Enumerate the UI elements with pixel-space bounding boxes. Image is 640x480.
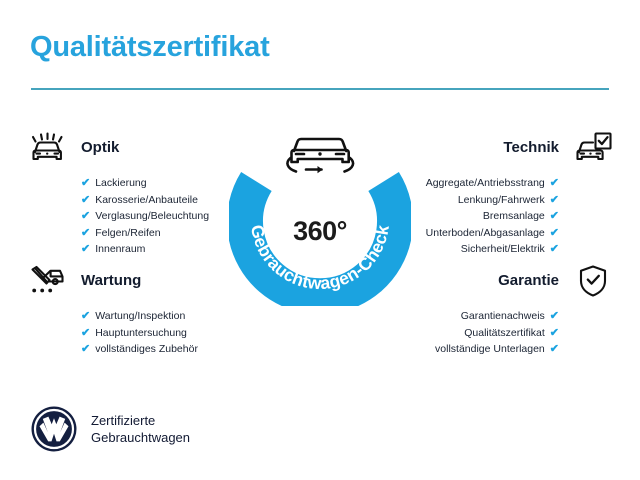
list-item-label: Lackierung xyxy=(95,175,146,192)
list-item-label: Bremsanlage xyxy=(483,208,545,225)
list-item: ✔Wartung/Inspektion xyxy=(81,308,251,325)
list-item: ✔Innenraum xyxy=(81,241,251,258)
check-icon: ✔ xyxy=(550,308,559,325)
car-service-wrench-icon xyxy=(26,262,68,300)
footer-brand-lockup: Zertifizierte Gebrauchtwagen xyxy=(30,405,190,453)
list-item-label: Sicherheit/Elektrik xyxy=(461,241,545,258)
list-item-label: vollständige Unterlagen xyxy=(435,341,545,358)
list-item-label: Karosserie/Anbauteile xyxy=(95,192,198,209)
list-item: ✔vollständiges Zubehör xyxy=(81,341,251,358)
list-item: Qualitätszertifikat✔ xyxy=(390,325,559,342)
check-icon: ✔ xyxy=(81,241,90,258)
list-item: vollständige Unterlagen✔ xyxy=(390,341,559,358)
checklist-optik: ✔Lackierung ✔Karosserie/Anbauteile ✔Verg… xyxy=(26,175,251,258)
list-item-label: vollständiges Zubehör xyxy=(95,341,198,358)
footer-line-2: Gebrauchtwagen xyxy=(91,430,190,445)
section-technik: Technik Aggregate/Antriebsstrang✔ Lenkun… xyxy=(390,128,614,258)
check-icon: ✔ xyxy=(81,325,90,342)
list-item: Unterboden/Abgasanlage✔ xyxy=(390,225,559,242)
list-item-label: Lenkung/Fahrwerk xyxy=(458,192,545,209)
check-icon: ✔ xyxy=(81,208,90,225)
checklist-wartung: ✔Wartung/Inspektion ✔Hauptuntersuchung ✔… xyxy=(26,308,251,358)
car-rotation-360-icon xyxy=(287,139,353,173)
title-divider xyxy=(31,88,609,90)
list-item-label: Innenraum xyxy=(95,241,145,258)
page-title: Qualitätszertifikat xyxy=(30,31,270,64)
list-item-label: Hauptuntersuchung xyxy=(95,325,187,342)
list-item: ✔Lackierung xyxy=(81,175,251,192)
list-item-label: Qualitätszertifikat xyxy=(464,325,545,342)
check-icon: ✔ xyxy=(550,175,559,192)
section-title-technik: Technik xyxy=(503,139,559,156)
checklist-garantie: Garantienachweis✔ Qualitätszertifikat✔ v… xyxy=(390,308,614,358)
check-icon: ✔ xyxy=(550,241,559,258)
list-item-label: Verglasung/Beleuchtung xyxy=(95,208,209,225)
section-title-garantie: Garantie xyxy=(498,272,559,289)
check-icon: ✔ xyxy=(550,325,559,342)
badge-360-gebrauchtwagen-check: Gebrauchtwagen-Check 360° xyxy=(229,124,411,306)
car-front-checkbox-icon xyxy=(572,129,614,167)
check-icon: ✔ xyxy=(550,341,559,358)
check-icon: ✔ xyxy=(81,341,90,358)
section-optik: Optik ✔Lackierung ✔Karosserie/Anbauteile… xyxy=(26,128,251,258)
check-icon: ✔ xyxy=(81,225,90,242)
vw-logo-icon xyxy=(30,405,78,453)
checklist-technik: Aggregate/Antriebsstrang✔ Lenkung/Fahrwe… xyxy=(390,175,614,258)
check-icon: ✔ xyxy=(550,192,559,209)
section-garantie: Garantie Garantienachweis✔ Qualitätszert… xyxy=(390,261,614,358)
list-item-label: Garantienachweis xyxy=(461,308,545,325)
list-item: Sicherheit/Elektrik✔ xyxy=(390,241,559,258)
footer-text: Zertifizierte Gebrauchtwagen xyxy=(91,412,190,446)
list-item-label: Felgen/Reifen xyxy=(95,225,160,242)
check-icon: ✔ xyxy=(550,208,559,225)
check-icon: ✔ xyxy=(550,225,559,242)
list-item: ✔Hauptuntersuchung xyxy=(81,325,251,342)
section-title-optik: Optik xyxy=(81,139,119,156)
list-item: Aggregate/Antriebsstrang✔ xyxy=(390,175,559,192)
list-item: ✔Verglasung/Beleuchtung xyxy=(81,208,251,225)
section-wartung: Wartung ✔Wartung/Inspektion ✔Hauptunters… xyxy=(26,261,251,358)
list-item: Lenkung/Fahrwerk✔ xyxy=(390,192,559,209)
car-front-shine-icon xyxy=(26,129,68,167)
footer-line-1: Zertifizierte xyxy=(91,413,155,428)
check-icon: ✔ xyxy=(81,175,90,192)
list-item: Bremsanlage✔ xyxy=(390,208,559,225)
badge-center-label: 360° xyxy=(229,216,411,247)
list-item: ✔Felgen/Reifen xyxy=(81,225,251,242)
list-item: ✔Karosserie/Anbauteile xyxy=(81,192,251,209)
shield-check-icon xyxy=(572,262,614,300)
section-title-wartung: Wartung xyxy=(81,272,141,289)
list-item-label: Aggregate/Antriebsstrang xyxy=(426,175,545,192)
list-item: Garantienachweis✔ xyxy=(390,308,559,325)
check-icon: ✔ xyxy=(81,308,90,325)
list-item-label: Unterboden/Abgasanlage xyxy=(426,225,545,242)
list-item-label: Wartung/Inspektion xyxy=(95,308,185,325)
check-icon: ✔ xyxy=(81,192,90,209)
